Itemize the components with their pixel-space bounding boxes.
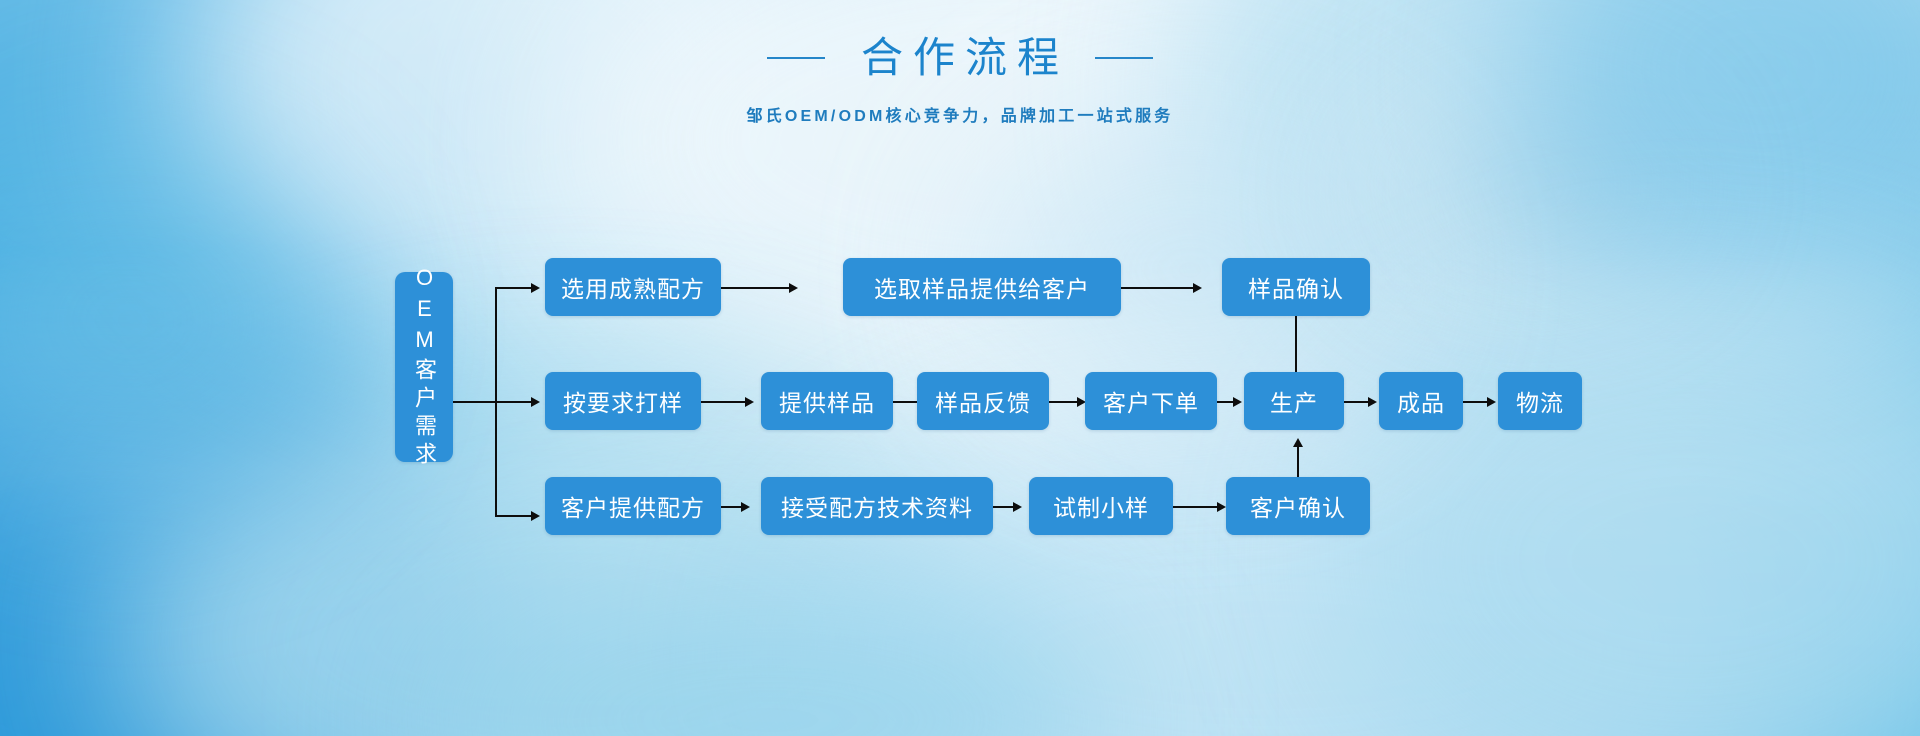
- connector-row3-1-2: [721, 506, 741, 508]
- connector-root-to-branch1: [495, 287, 531, 289]
- arrow-root-to-branch1-icon: [531, 283, 540, 293]
- arrow-root-to-branch3-icon: [531, 511, 540, 521]
- connector-root-stub: [453, 401, 495, 403]
- process-flow-diagram: OEM客户需求 选用成熟配方 选取样品提供给客户 样品确认 按要求打样 提供样品…: [0, 0, 1920, 736]
- connector-row2-6-7: [1463, 401, 1487, 403]
- flow-node-provide-sample[interactable]: 提供样品: [761, 372, 893, 430]
- flow-node-sample-on-request[interactable]: 按要求打样: [545, 372, 701, 430]
- connector-customer-confirm-to-production: [1297, 447, 1299, 477]
- flow-node-sample-feedback[interactable]: 样品反馈: [917, 372, 1049, 430]
- arrow-row3-3-4-icon: [1217, 502, 1226, 512]
- arrow-row2-1-2-icon: [745, 397, 754, 407]
- arrow-row2-5-6-icon: [1368, 397, 1377, 407]
- flow-node-production[interactable]: 生产: [1244, 372, 1344, 430]
- flow-node-receive-formula-docs[interactable]: 接受配方技术资料: [761, 477, 993, 535]
- flow-node-logistics[interactable]: 物流: [1498, 372, 1582, 430]
- flow-node-customer-confirmation[interactable]: 客户确认: [1226, 477, 1370, 535]
- flow-node-select-mature-formula[interactable]: 选用成熟配方: [545, 258, 721, 316]
- arrow-root-to-branch2-icon: [531, 397, 540, 407]
- connector-row2-5-6: [1344, 401, 1368, 403]
- flow-node-customer-order[interactable]: 客户下单: [1085, 372, 1217, 430]
- arrow-row1-1-2-icon: [789, 283, 798, 293]
- flow-node-customer-provides-formula[interactable]: 客户提供配方: [545, 477, 721, 535]
- arrow-row3-2-3-icon: [1013, 502, 1022, 512]
- connector-root-to-branch2: [495, 401, 531, 403]
- connector-row2-1-2: [701, 401, 745, 403]
- connector-row2-3-4: [1049, 401, 1077, 403]
- connector-sample-confirm-to-production: [1295, 316, 1297, 378]
- connector-row1-1-2: [721, 287, 789, 289]
- flow-node-root[interactable]: OEM客户需求: [395, 272, 453, 462]
- arrow-row3-1-2-icon: [741, 502, 750, 512]
- arrow-customer-confirm-to-production-icon: [1293, 438, 1303, 447]
- connector-row3-3-4: [1173, 506, 1217, 508]
- connector-row1-2-3: [1121, 287, 1193, 289]
- flow-node-finished-product[interactable]: 成品: [1379, 372, 1463, 430]
- flow-node-trial-sample[interactable]: 试制小样: [1029, 477, 1173, 535]
- connector-row2-4-5: [1217, 401, 1233, 403]
- arrow-row2-4-5-icon: [1233, 397, 1242, 407]
- connector-root-to-branch3: [495, 515, 531, 517]
- flow-node-provide-sample-to-customer[interactable]: 选取样品提供给客户: [843, 258, 1121, 316]
- arrow-row1-2-3-icon: [1193, 283, 1202, 293]
- arrow-row2-6-7-icon: [1487, 397, 1496, 407]
- connector-row3-2-3: [993, 506, 1013, 508]
- flow-node-sample-confirmation[interactable]: 样品确认: [1222, 258, 1370, 316]
